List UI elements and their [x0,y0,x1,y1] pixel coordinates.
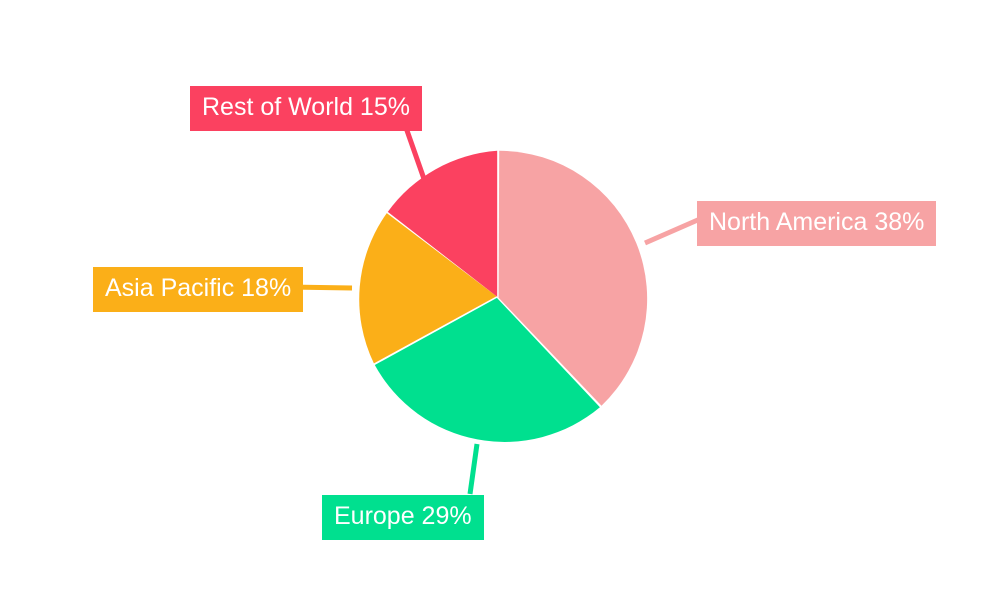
pie-label-asia-pacific[interactable]: Asia Pacific 18% [93,267,303,312]
pie-chart: North America 38% Europe 29% Asia Pacifi… [0,0,1000,600]
leader-line-europe [470,444,477,494]
pie-label-north-america[interactable]: North America 38% [697,201,936,246]
pie-label-europe[interactable]: Europe 29% [322,495,484,540]
pie-label-rest-of-world[interactable]: Rest of World 15% [190,86,422,131]
leader-line-north-america [645,219,700,243]
